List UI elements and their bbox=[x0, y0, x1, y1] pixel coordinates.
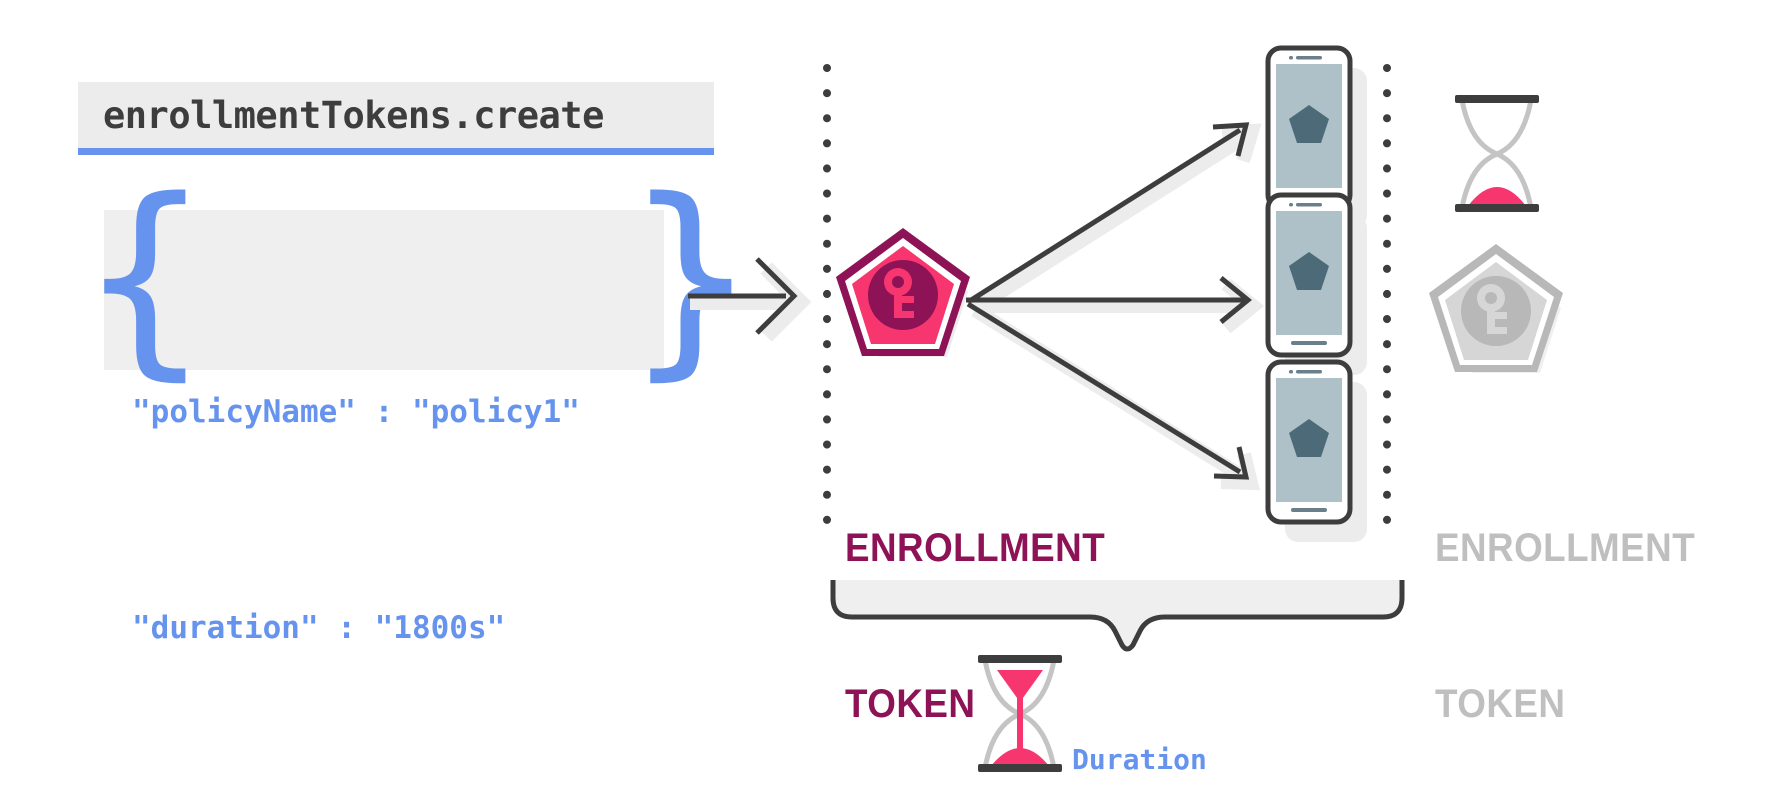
phone-icon bbox=[1268, 362, 1367, 542]
expires-label-line1: ENROLLMENT bbox=[1435, 522, 1695, 574]
enrollment-token-label-line2: TOKEN bbox=[845, 678, 1105, 730]
api-method-label: enrollmentTokens.create bbox=[103, 94, 604, 137]
enrollment-token-expires-label: ENROLLMENT TOKEN EXPIRES bbox=[1435, 418, 1695, 795]
expired-token-icon bbox=[1429, 244, 1563, 373]
json-line-duration: "duration" : "1800s" bbox=[132, 592, 652, 664]
json-line-policy-name: "policyName" : "policy1" bbox=[132, 376, 652, 448]
phone-icon bbox=[1268, 195, 1367, 375]
expires-label-line2: TOKEN bbox=[1435, 678, 1695, 730]
key-glyph bbox=[884, 268, 914, 318]
duration-caption-line1: Duration bbox=[1072, 740, 1274, 780]
enrollment-token-label: ENROLLMENT TOKEN bbox=[845, 418, 1105, 795]
hourglass-icon bbox=[1455, 95, 1539, 212]
request-body-lines: "policyName" : "policy1" "duration" : "1… bbox=[132, 232, 652, 795]
enrollment-token-icon bbox=[836, 228, 970, 357]
device-list bbox=[1268, 48, 1367, 542]
diagram-canvas: enrollmentTokens.create { } "policyName"… bbox=[0, 0, 1789, 795]
phone-icon bbox=[1268, 48, 1367, 228]
enrollment-token-label-line1: ENROLLMENT bbox=[845, 522, 1105, 574]
duration-caption: Duration 1800 seconds bbox=[1072, 660, 1274, 795]
api-method-heading: enrollmentTokens.create bbox=[78, 82, 714, 148]
